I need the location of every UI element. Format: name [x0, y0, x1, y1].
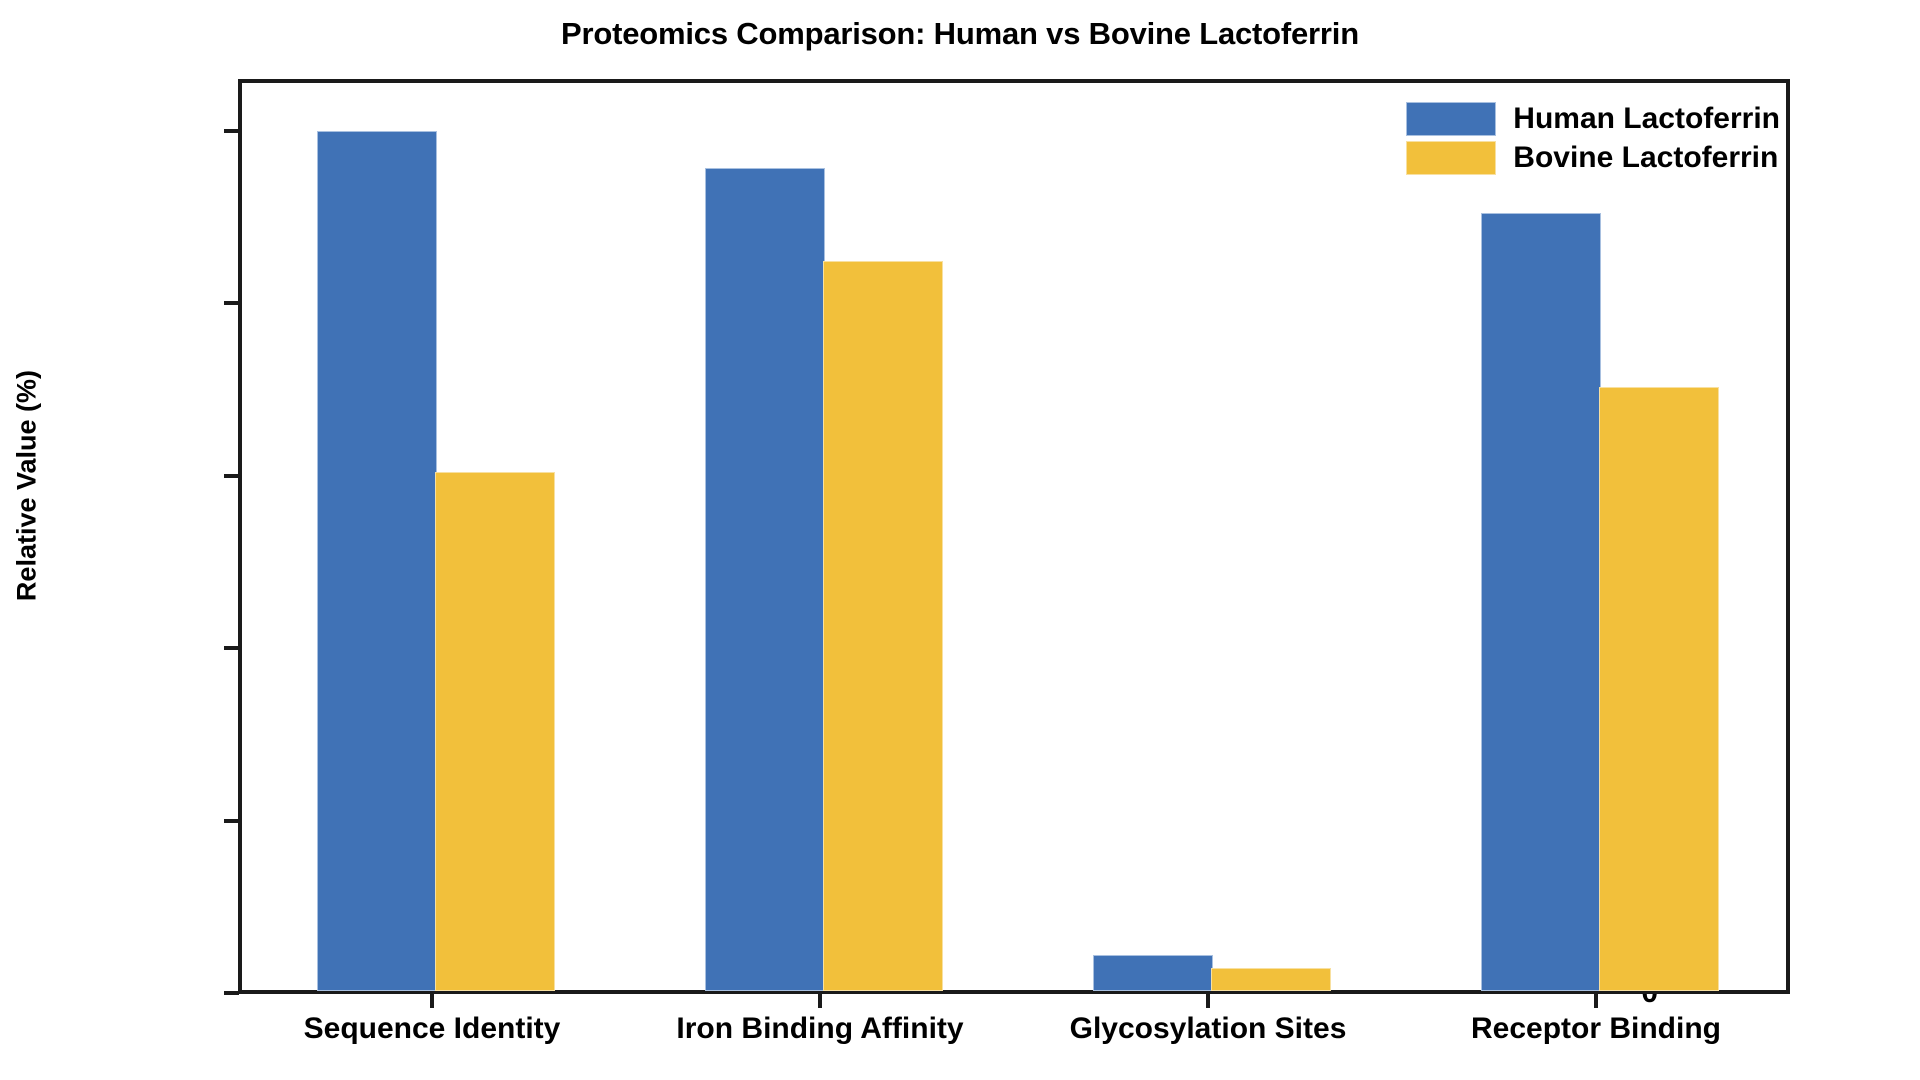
- bar-iron-binding-affinity-human-lactoferrin: [706, 169, 824, 990]
- y-tick-mark-40: [224, 646, 239, 650]
- x-tick-mark-iron-binding-affinity: [818, 993, 822, 1008]
- legend-entry-bovine-lactoferrin: Bovine Lactoferrin: [1407, 141, 1780, 175]
- x-tick-label-sequence-identity: Sequence Identity: [217, 1012, 647, 1046]
- x-tick-label-iron-binding-affinity: Iron Binding Affinity: [605, 1012, 1035, 1046]
- bar-iron-binding-affinity-bovine-lactoferrin: [824, 262, 942, 990]
- y-tick-mark-0: [224, 991, 239, 995]
- legend-label: Bovine Lactoferrin: [1513, 141, 1778, 175]
- y-tick-mark-60: [224, 474, 239, 478]
- legend-swatch-icon: [1407, 142, 1495, 174]
- bar-receptor-binding-bovine-lactoferrin: [1600, 388, 1718, 990]
- legend-swatch-icon: [1407, 103, 1495, 135]
- chart-title: Proteomics Comparison: Human vs Bovine L…: [0, 16, 1920, 52]
- y-tick-mark-100: [224, 129, 239, 133]
- x-tick-mark-sequence-identity: [430, 993, 434, 1008]
- chart-figure: Proteomics Comparison: Human vs Bovine L…: [0, 0, 1920, 1080]
- legend-label: Human Lactoferrin: [1513, 102, 1780, 136]
- bar-sequence-identity-bovine-lactoferrin: [436, 473, 554, 990]
- bar-receptor-binding-human-lactoferrin: [1482, 214, 1600, 990]
- x-tick-mark-glycosylation-sites: [1206, 993, 1210, 1008]
- x-tick-label-receptor-binding: Receptor Binding: [1381, 1012, 1811, 1046]
- x-tick-mark-receptor-binding: [1594, 993, 1598, 1008]
- legend-entry-human-lactoferrin: Human Lactoferrin: [1407, 102, 1780, 136]
- bars-layer: [242, 83, 1786, 990]
- plot-area: Human LactoferrinBovine Lactoferrin: [238, 79, 1790, 994]
- bar-glycosylation-sites-human-lactoferrin: [1094, 956, 1212, 990]
- y-tick-mark-20: [224, 819, 239, 823]
- x-tick-label-glycosylation-sites: Glycosylation Sites: [993, 1012, 1423, 1046]
- bar-sequence-identity-human-lactoferrin: [318, 132, 436, 990]
- y-axis-label: Relative Value (%): [12, 276, 43, 696]
- chart-legend: Human LactoferrinBovine Lactoferrin: [1407, 102, 1780, 175]
- y-tick-mark-80: [224, 301, 239, 305]
- bar-glycosylation-sites-bovine-lactoferrin: [1212, 969, 1330, 990]
